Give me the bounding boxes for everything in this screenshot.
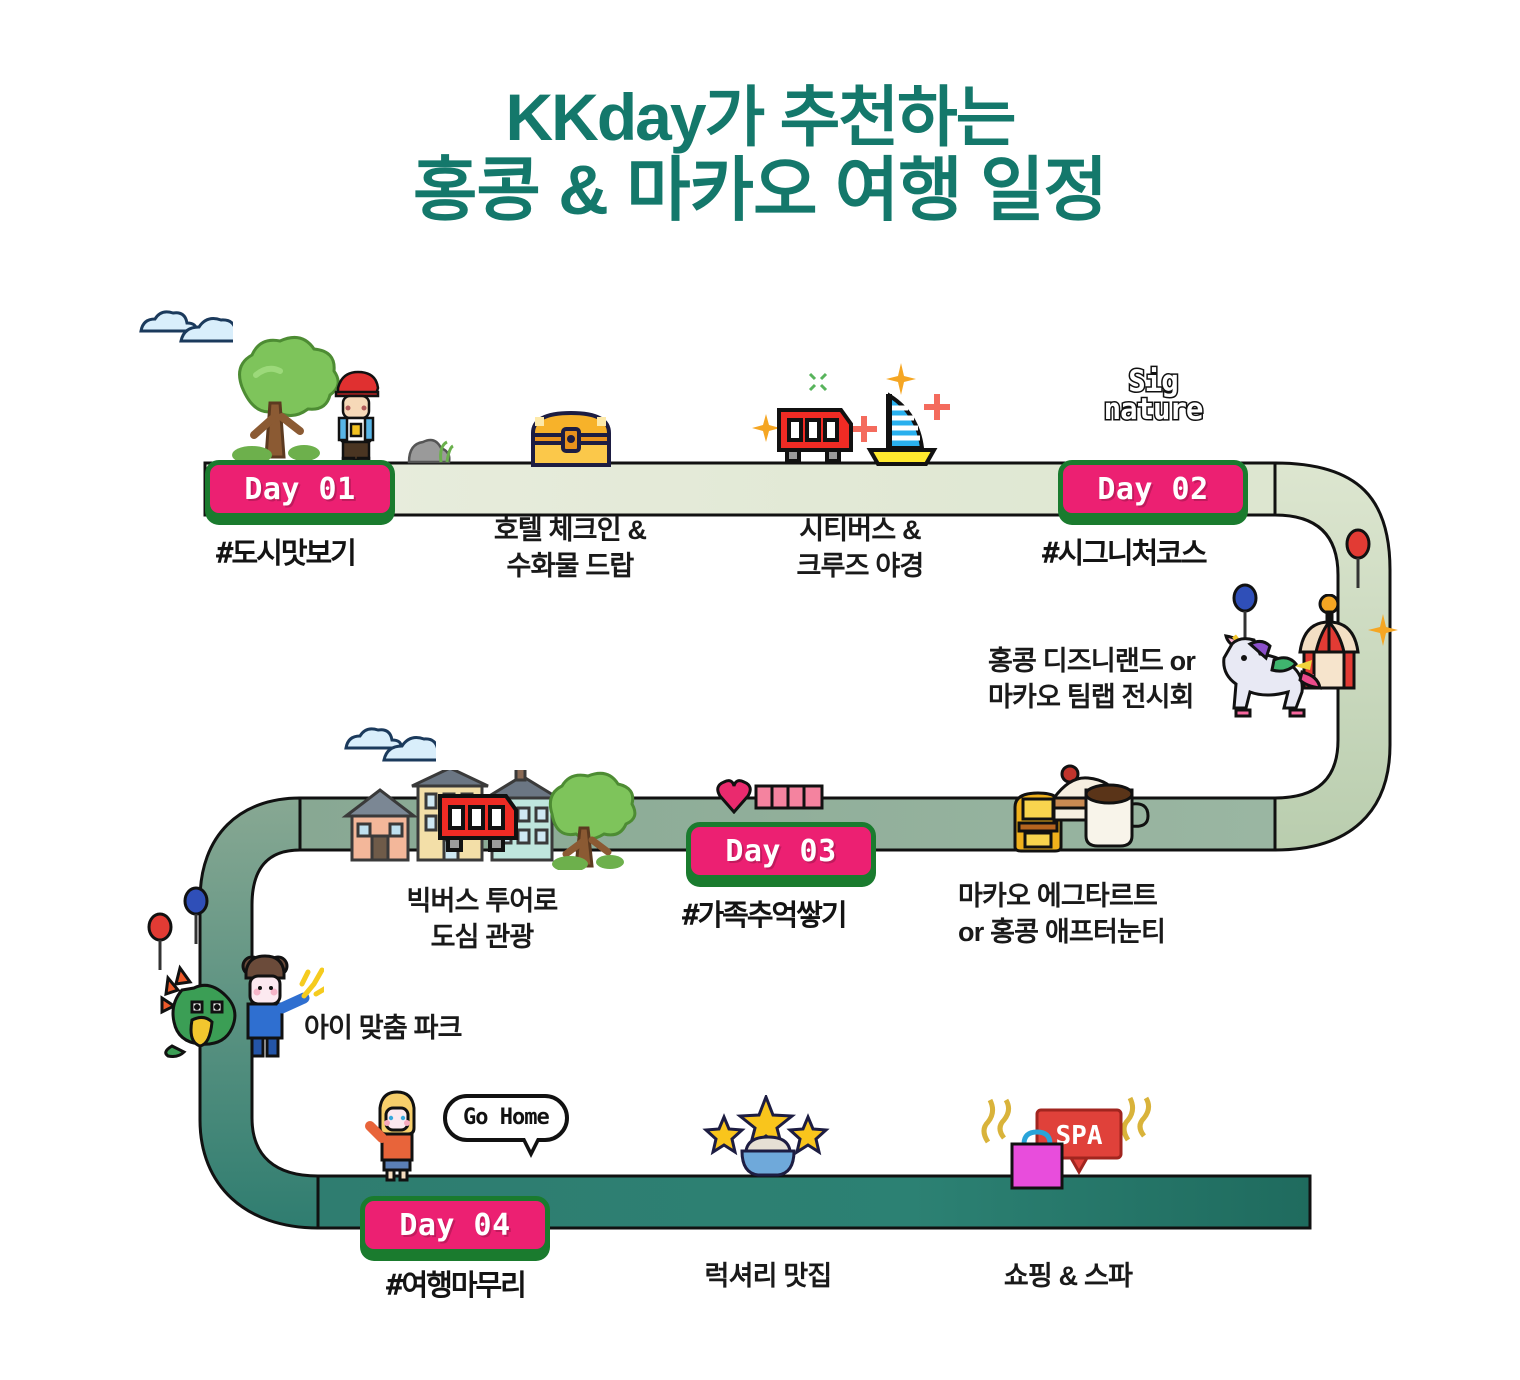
hashtag-day-03: #가족추억쌓기 <box>682 892 846 934</box>
bus-icon <box>773 404 859 466</box>
caption-day-01-stop-2: 시티버스 & 크루즈 야경 <box>730 512 990 585</box>
coffee-cup-icon <box>1078 778 1150 852</box>
speech-bubble: Go Home <box>443 1094 569 1142</box>
day-badge-label: Day 02 <box>1097 472 1208 507</box>
boy-with-cap-icon <box>330 366 382 471</box>
hashtag-day-01: #도시맛보기 <box>216 530 355 572</box>
day-badge-label: Day 04 <box>399 1208 510 1243</box>
caption-day-03-stop-2: 마카오 에그타르트 or 홍콩 애프터눈티 <box>958 878 1238 951</box>
signature-line-2: nature <box>1058 396 1248 424</box>
caption-day-04-stop-1: 럭셔리 맛집 <box>638 1258 898 1294</box>
sparkle-icon <box>886 363 916 395</box>
caption-day-02-stop-1: 홍콩 디즈니랜드 or 마카오 팀랩 전시회 <box>988 643 1238 716</box>
day-badge-day-01[interactable]: Day 01 <box>205 460 395 518</box>
caption-day-01-stop-1: 호텔 체크인 & 수화물 드랍 <box>440 512 700 585</box>
girl-waving-icon <box>364 1090 430 1182</box>
signature-label: Sig nature <box>1058 368 1248 423</box>
balloon-icon <box>1344 528 1372 592</box>
hashtag-day-04: #여행마무리 <box>386 1262 525 1304</box>
sparkle-icon <box>806 370 830 394</box>
sparkle-icon <box>1368 614 1398 646</box>
tree-icon <box>530 764 640 870</box>
cloud-icon <box>340 722 436 768</box>
balloon-icon <box>182 886 210 948</box>
heart-health-bar-icon <box>716 778 826 814</box>
stars-food-bowl-icon <box>700 1095 836 1179</box>
shopping-bag-icon <box>1002 1128 1072 1190</box>
sailboat-icon <box>866 392 938 470</box>
rock-icon <box>405 432 455 464</box>
day-badge-day-02[interactable]: Day 02 <box>1058 460 1248 518</box>
caption-day-03-stop-3: 아이 맞춤 파크 <box>304 1010 564 1046</box>
day-badge-label: Day 01 <box>244 472 355 507</box>
caption-day-04-stop-2: 쇼핑 & 스파 <box>938 1258 1198 1294</box>
day-badge-day-03[interactable]: Day 03 <box>686 822 876 880</box>
day-badge-label: Day 03 <box>725 834 836 869</box>
red-bus-icon <box>432 790 524 856</box>
caption-day-03-stop-1: 빅버스 투어로 도심 관광 <box>352 883 612 956</box>
infographic-canvas: KKday가 추천하는 홍콩 & 마카오 여행 일정 <box>0 0 1520 1380</box>
tree-icon <box>212 325 340 467</box>
day-badge-day-04[interactable]: Day 04 <box>360 1196 550 1254</box>
hashtag-day-02: #시그니처코스 <box>1042 530 1206 572</box>
treasure-chest-icon <box>527 407 615 469</box>
